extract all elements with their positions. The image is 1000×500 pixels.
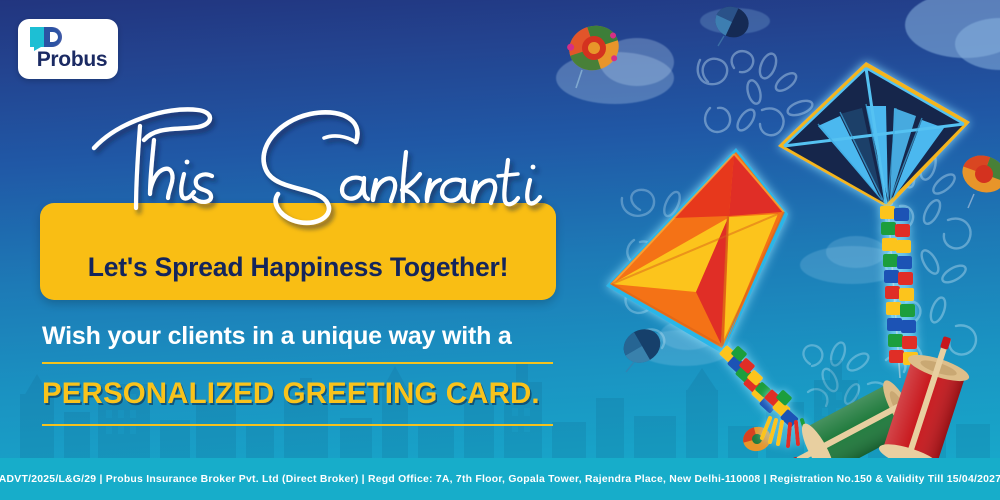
cta-text: PERSONALIZED GREETING CARD. (42, 377, 540, 411)
probus-wordmark: Probus (26, 48, 118, 72)
tagline-text: Let's Spread Happiness Together! (88, 252, 509, 283)
small-kite-dark-top (712, 4, 752, 48)
disclaimer-text: ADVT/2025/L&G/29 | Probus Insurance Brok… (0, 474, 1000, 485)
footer-bar: ADVT/2025/L&G/29 | Probus Insurance Brok… (0, 458, 1000, 500)
tagline-box: Let's Spread Happiness Together! (40, 203, 556, 300)
script-headline (88, 104, 558, 214)
sankranti-promo-banner: Probus (0, 0, 1000, 500)
main-kite-navy (770, 48, 1000, 378)
small-kite-orange-patch (566, 22, 622, 92)
divider-rule-bottom (42, 424, 553, 426)
subhead-text: Wish your clients in a unique way with a (42, 322, 512, 351)
divider-rule-top (42, 362, 553, 364)
probus-logo[interactable]: Probus (18, 19, 118, 79)
